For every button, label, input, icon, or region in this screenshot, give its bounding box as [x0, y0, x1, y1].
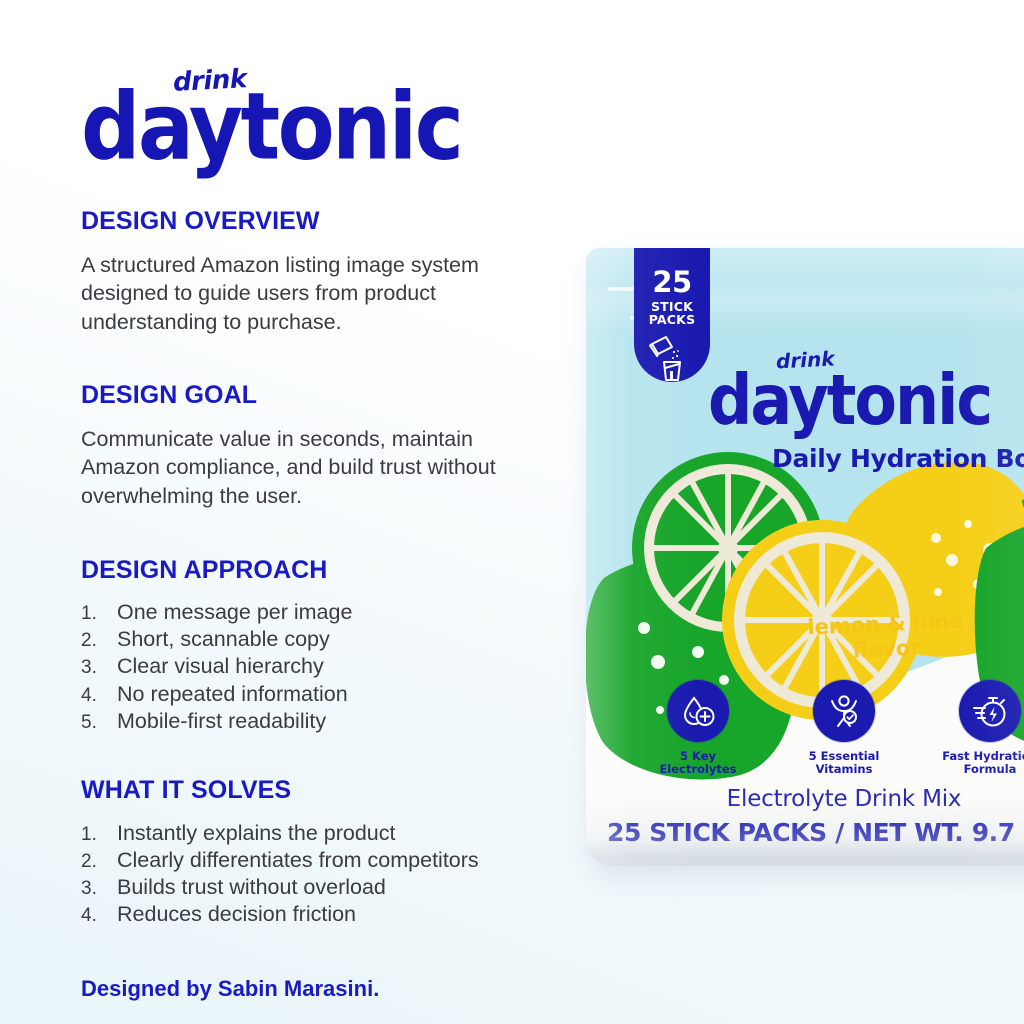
list-item-number: 2. [81, 850, 117, 874]
list-item: 2.Clearly differentiates from competitor… [81, 847, 551, 874]
list-item: 1.One message per image [81, 599, 551, 626]
brand-logo-wordmark: daytonic [81, 80, 461, 173]
list-item: 3.Clear visual hierarchy [81, 653, 551, 680]
list-item-number: 4. [81, 904, 117, 928]
section-design-approach: DESIGN APPROACH 1.One message per image2… [81, 557, 551, 735]
stick-pack-label: STICK PACKS [634, 300, 710, 327]
pouch-benefit-badges: 5 Key Electrolytes 5 Essential Vitamins [608, 680, 1024, 776]
list-item-text: One message per image [117, 599, 352, 626]
approach-list: 1.One message per image2.Short, scannabl… [81, 599, 551, 735]
pouch-logo-wordmark: daytonic [708, 366, 991, 435]
section-title: DESIGN OVERVIEW [81, 208, 551, 236]
droplet-plus-icon [667, 680, 729, 742]
list-item: 1.Instantly explains the product [81, 820, 551, 847]
list-item: 5.Mobile-first readability [81, 708, 551, 735]
credit-line: Designed by Sabin Marasini. [81, 976, 551, 1002]
section-title: DESIGN GOAL [81, 382, 551, 410]
poster-canvas: daytonic drink DESIGN OVERVIEW A structu… [0, 0, 1024, 1024]
section-what-it-solves: WHAT IT SOLVES 1.Instantly explains the … [81, 777, 551, 928]
stick-pack-tab: 25 STICK PACKS [634, 248, 710, 382]
section-design-overview: DESIGN OVERVIEW A structured Amazon list… [81, 208, 551, 336]
section-title: WHAT IT SOLVES [81, 777, 551, 805]
list-item-text: Clear visual hierarchy [117, 653, 324, 680]
stopwatch-bolt-icon [959, 680, 1021, 742]
list-item-text: Reduces decision friction [117, 901, 356, 928]
pouch-body: 25 STICK PACKS [586, 248, 1024, 866]
list-item: 4.No repeated information [81, 681, 551, 708]
badge-label: 5 Essential Vitamins [790, 750, 898, 776]
list-item: 2.Short, scannable copy [81, 626, 551, 653]
list-item: 4.Reduces decision friction [81, 901, 551, 928]
list-item-number: 1. [81, 602, 117, 626]
stick-pack-pouring-icon [634, 330, 710, 387]
solves-list: 1.Instantly explains the product2.Clearl… [81, 820, 551, 929]
list-item-number: 2. [81, 629, 117, 653]
pouch-logo-kicker: drink [775, 346, 835, 373]
badge-electrolytes: 5 Key Electrolytes [644, 680, 752, 776]
badge-label: 5 Key Electrolytes [644, 750, 752, 776]
pouch-tagline: Daily Hydration Boost [772, 444, 1024, 473]
list-item-text: Builds trust without overload [117, 874, 386, 901]
list-item-text: Mobile-first readability [117, 708, 326, 735]
stick-pack-count: 25 [634, 248, 710, 297]
pouch-description: Electrolyte Drink Mix [586, 786, 1024, 812]
product-pouch: 25 STICK PACKS [586, 248, 1024, 878]
person-check-icon [813, 680, 875, 742]
section-body: A structured Amazon listing image system… [81, 251, 551, 337]
badge-label: Fast Hydration Formula [936, 750, 1024, 776]
list-item-text: Instantly explains the product [117, 820, 395, 847]
list-item-number: 3. [81, 877, 117, 901]
badge-vitamins: 5 Essential Vitamins [790, 680, 898, 776]
badge-fast-hydration: Fast Hydration Formula [936, 680, 1024, 776]
list-item-number: 4. [81, 684, 117, 708]
list-item-text: No repeated information [117, 681, 348, 708]
brand-logo: daytonic drink [81, 54, 551, 162]
pouch-flavor-text: lemon & lime flavor [785, 608, 987, 666]
list-item: 3.Builds trust without overload [81, 874, 551, 901]
list-item-number: 3. [81, 656, 117, 680]
section-design-goal: DESIGN GOAL Communicate value in seconds… [81, 382, 551, 510]
list-item-number: 5. [81, 711, 117, 735]
pouch-brand-logo: daytonic drink [708, 366, 991, 428]
pouch-net-weight: 25 STICK PACKS / NET WT. 9.7 OZ ( [586, 818, 1024, 847]
section-title: DESIGN APPROACH [81, 557, 551, 585]
section-body: Communicate value in seconds, maintain A… [81, 425, 551, 511]
list-item-text: Clearly differentiates from competitors [117, 847, 479, 874]
list-item-text: Short, scannable copy [117, 626, 330, 653]
content-column: daytonic drink DESIGN OVERVIEW A structu… [81, 54, 551, 1002]
brand-logo-kicker: drink [172, 64, 247, 98]
list-item-number: 1. [81, 823, 117, 847]
